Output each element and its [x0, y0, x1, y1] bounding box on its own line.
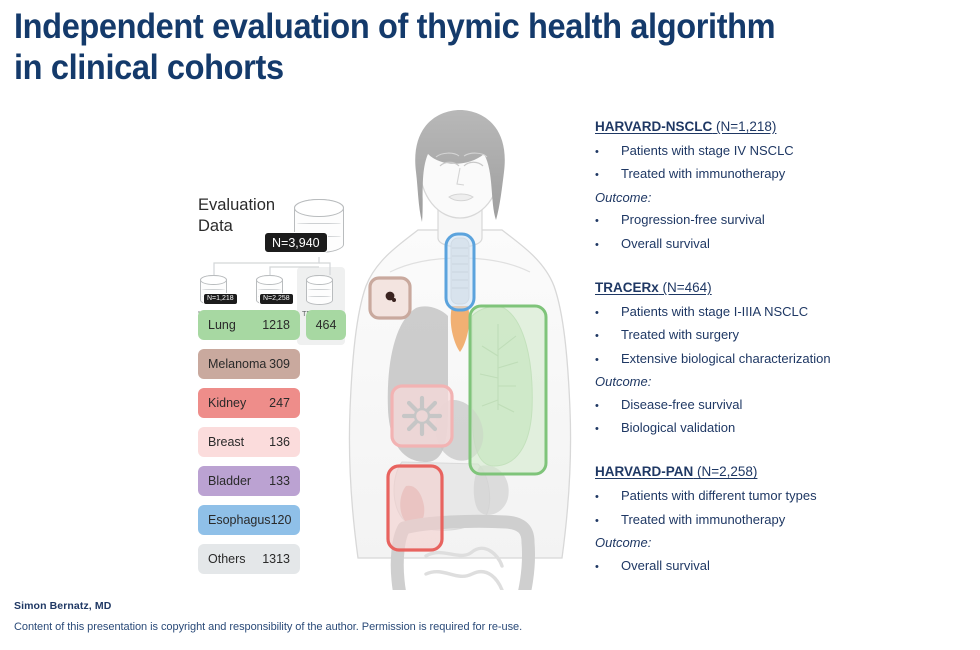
tumor-row-others: Others1313 [198, 544, 300, 574]
cohort-sample-size: (N=2,258) [693, 464, 757, 479]
total-n-badge: N=3,940 [264, 232, 328, 253]
bullet-dot-icon: • [595, 349, 621, 371]
bullet-text: Progression-free survival [621, 209, 975, 231]
tumor-row-esophagus: Esophagus120 [198, 505, 300, 535]
tumor-row-bladder: Bladder133 [198, 466, 300, 496]
cohort-block-harvard-pan: HARVARD-PAN (N=2,258)•Patients with diff… [595, 462, 975, 578]
bullet-text: Biological validation [621, 417, 975, 439]
tumor-row-label: Kidney [198, 396, 269, 410]
highlight-box-lung [470, 306, 546, 474]
tumor-row-value: 133 [269, 474, 300, 488]
cohort-heading: HARVARD-NSCLC (N=1,218) [595, 117, 975, 136]
tumor-row-value: 120 [271, 513, 302, 527]
footer-author: Simon Bernatz, MD [14, 600, 111, 612]
tumor-row-label: Lung [198, 318, 262, 332]
database-icon-tracerx [306, 275, 333, 305]
highlight-box-breast [392, 386, 452, 446]
tumor-row-value: 1218 [262, 318, 300, 332]
bullet-dot-icon: • [595, 302, 621, 324]
bullet-dot-icon: • [595, 510, 621, 532]
bullet-item: •Treated with surgery [595, 324, 975, 347]
bullet-text: Treated with immunotherapy [621, 163, 975, 185]
cohort-heading: TRACERx (N=464) [595, 278, 975, 297]
highlight-box-kidney [388, 466, 442, 550]
bullet-item: •Progression-free survival [595, 209, 975, 232]
cohort-name: TRACERx [595, 280, 659, 295]
cohort-heading: HARVARD-PAN (N=2,258) [595, 462, 975, 481]
bullet-item: •Treated with immunotherapy [595, 509, 975, 532]
bullet-text: Patients with stage I-IIIA NSCLC [621, 301, 975, 323]
tumor-row-lung: Lung1218 [198, 310, 300, 340]
bullet-dot-icon: • [595, 418, 621, 440]
bullet-item: •Patients with stage I-IIIA NSCLC [595, 301, 975, 324]
bullet-text: Treated with immunotherapy [621, 509, 975, 531]
evaluation-data-diagram: Evaluation Data N=3,940 N=1,218 N=2,258 … [190, 185, 350, 575]
female-torso-diagram [330, 110, 590, 590]
tumor-row-kidney: Kidney247 [198, 388, 300, 418]
tumor-row-label: Bladder [198, 474, 269, 488]
highlight-box-esophagus [446, 234, 474, 310]
bullet-item: •Overall survival [595, 233, 975, 256]
cohort-sample-size: (N=464) [659, 280, 712, 295]
bullet-item: •Overall survival [595, 555, 975, 578]
bullet-dot-icon: • [595, 234, 621, 256]
bullet-item: •Biological validation [595, 417, 975, 440]
melanoma-lesion-mark-2 [392, 298, 396, 302]
page-title: Independent evaluation of thymic health … [14, 6, 899, 88]
cohort-block-harvard-nsclc: HARVARD-NSCLC (N=1,218)•Patients with st… [595, 117, 975, 256]
bullet-text: Overall survival [621, 555, 975, 577]
tumor-row-value: 1313 [262, 552, 300, 566]
bullet-text: Disease-free survival [621, 394, 975, 416]
evaluation-data-label: Evaluation Data [198, 195, 293, 237]
cohort-name: HARVARD-NSCLC [595, 119, 712, 134]
bullet-item: •Extensive biological characterization [595, 348, 975, 371]
bullet-item: •Patients with stage IV NSCLC [595, 140, 975, 163]
harvard-pan-n-badge: N=2,258 [259, 293, 294, 305]
outcome-label: Outcome: [595, 532, 975, 554]
mouth [449, 194, 473, 201]
tumor-row-value: 309 [269, 357, 300, 371]
outcome-label: Outcome: [595, 371, 975, 393]
bullet-text: Overall survival [621, 233, 975, 255]
tumor-row-label: Breast [198, 435, 269, 449]
footer-copyright: Content of this presentation is copyrigh… [14, 621, 522, 633]
cohort-descriptions: HARVARD-NSCLC (N=1,218)•Patients with st… [595, 117, 975, 600]
harvard-nsclc-n-badge: N=1,218 [203, 293, 238, 305]
cohort-block-tracerx: TRACERx (N=464)•Patients with stage I-II… [595, 278, 975, 440]
bullet-item: •Patients with different tumor types [595, 485, 975, 508]
bullet-dot-icon: • [595, 556, 621, 578]
bullet-item: •Disease-free survival [595, 394, 975, 417]
cohort-name: HARVARD-PAN [595, 464, 693, 479]
tumor-row-breast: Breast136 [198, 427, 300, 457]
bullet-dot-icon: • [595, 141, 621, 163]
tumor-row-value: 136 [269, 435, 300, 449]
anatomy-illustration [330, 110, 590, 590]
bullet-text: Patients with different tumor types [621, 485, 975, 507]
tumor-row-label: Others [198, 552, 262, 566]
cohort-sample-size: (N=1,218) [712, 119, 776, 134]
tumor-row-melanoma: Melanoma309 [198, 349, 300, 379]
bullet-text: Extensive biological characterization [621, 348, 975, 370]
bullet-dot-icon: • [595, 164, 621, 186]
bullet-dot-icon: • [595, 210, 621, 232]
tumor-row-label: Esophagus [198, 513, 271, 527]
bullet-dot-icon: • [595, 325, 621, 347]
bullet-dot-icon: • [595, 395, 621, 417]
bullet-item: •Treated with immunotherapy [595, 163, 975, 186]
outcome-label: Outcome: [595, 187, 975, 209]
tumor-row-label: Melanoma [198, 357, 269, 371]
bullet-text: Patients with stage IV NSCLC [621, 140, 975, 162]
bullet-text: Treated with surgery [621, 324, 975, 346]
bullet-dot-icon: • [595, 486, 621, 508]
tumor-row-value: 247 [269, 396, 300, 410]
